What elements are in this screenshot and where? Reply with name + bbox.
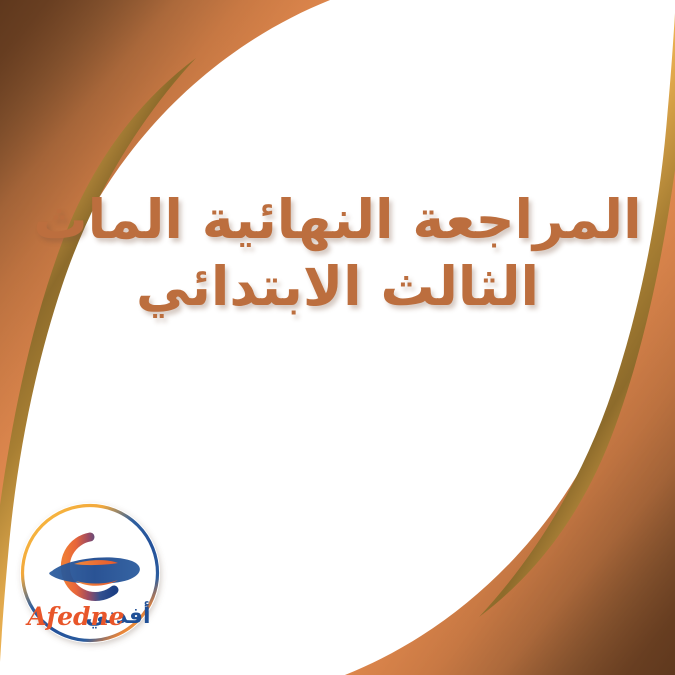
page-title: المراجعة النهائية الماث الثالث الابتدائي [0,192,675,315]
poster-canvas: المراجعة النهائية الماث الثالث الابتدائي [0,0,675,675]
logo-latin-text: Afedne [25,602,124,631]
title-line-2: الثالث الابتدائي [0,259,675,316]
brand-logo-graphic: أفدني Afedne [14,497,166,649]
title-line-1: المراجعة النهائية الماث [0,192,675,249]
brand-logo[interactable]: أفدني Afedne [14,497,166,649]
